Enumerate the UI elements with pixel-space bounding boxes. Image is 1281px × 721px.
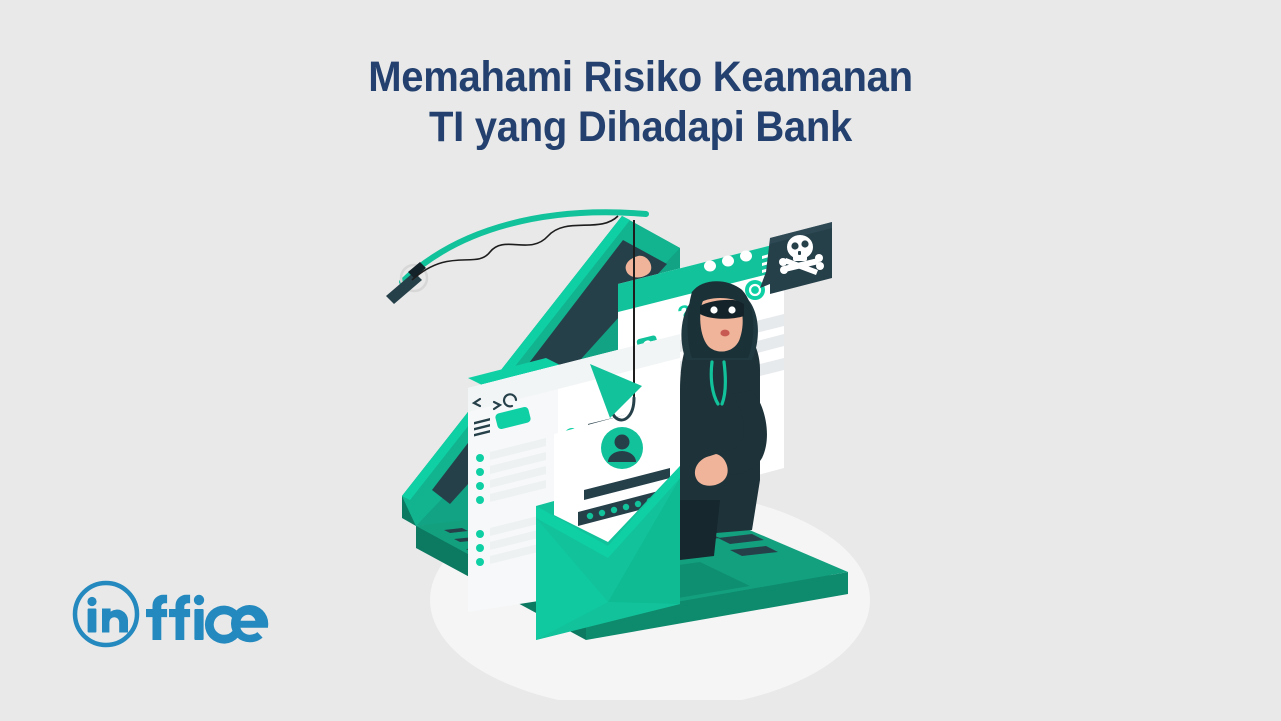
logo-letter-n	[102, 609, 128, 633]
logo-letter-i-stem	[88, 609, 97, 633]
page-title-line-2: TI yang Dihadapi Bank	[45, 102, 1236, 152]
page-title: Memahami Risiko Keamanan TI yang Dihadap…	[0, 52, 1281, 152]
page-title-line-1: Memahami Risiko Keamanan	[45, 52, 1236, 102]
hacker-eye-left	[710, 306, 717, 313]
envelope	[536, 400, 680, 640]
logo-letter-i-dot	[87, 597, 96, 606]
hacker-eye-right	[728, 306, 735, 313]
skull-flag-icon[interactable]	[760, 222, 832, 294]
hacker-legs	[680, 500, 720, 560]
phishing-illustration: ? ×	[380, 200, 920, 700]
brand-logo[interactable]	[70, 578, 290, 650]
logo-wordmark-ffice	[146, 595, 268, 644]
hacker-mouth	[720, 330, 729, 337]
avatar-icon	[601, 427, 643, 469]
brand-logo-mark	[70, 578, 290, 650]
